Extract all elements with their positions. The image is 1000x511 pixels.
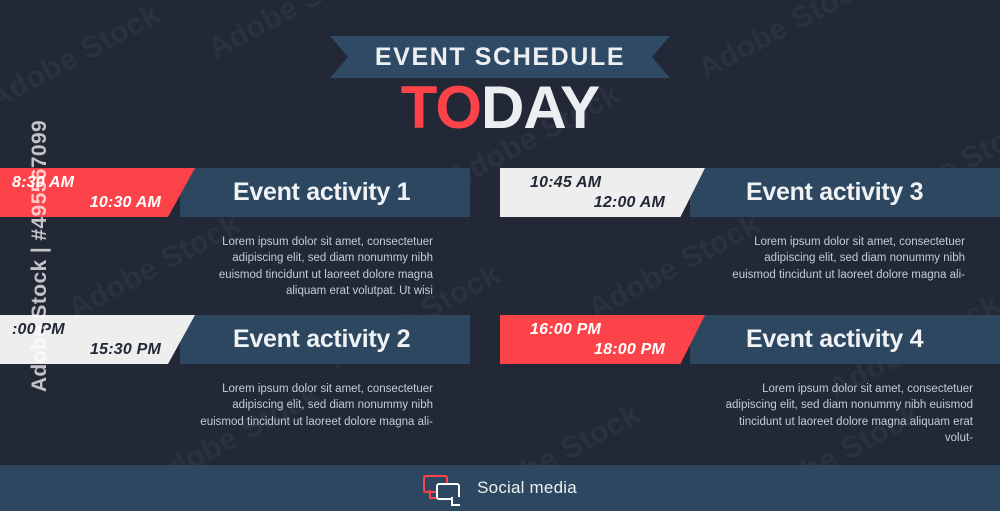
event-title-bar: Event activity 1 — [180, 168, 470, 217]
event-title-bar: Event activity 2 — [180, 315, 470, 364]
event-schedule-poster: Adobe Stock Adobe Stock Adobe Stock Adob… — [0, 0, 1000, 511]
event-title: Event activity 4 — [690, 325, 923, 354]
event-end-time: 15:30 PM — [0, 340, 165, 360]
title-part-day: DAY — [481, 74, 599, 141]
event-end-time: 18:00 PM — [500, 340, 675, 360]
event-description: Lorem ipsum dolor sit amet, consectetuer… — [720, 234, 965, 283]
event-title-bar: Event activity 4 — [690, 315, 1000, 364]
page-title: TODAY — [0, 78, 1000, 138]
event-title: Event activity 3 — [690, 178, 923, 207]
event-description: Lorem ipsum dolor sit amet, consectetuer… — [200, 381, 433, 430]
social-media-label: Social media — [477, 478, 577, 498]
event-end-time: 12:00 AM — [500, 193, 675, 213]
header-ribbon: EVENT SCHEDULE — [330, 36, 670, 78]
event-time-badge: 8:30 AM 10:30 AM — [0, 168, 195, 217]
event-row[interactable]: Event activity 3 10:45 AM 12:00 AM Lorem… — [515, 168, 1000, 298]
event-description: Lorem ipsum dolor sit amet, consectetuer… — [715, 381, 973, 446]
event-title: Event activity 1 — [180, 178, 410, 207]
event-row[interactable]: Event activity 4 16:00 PM 18:00 PM Lorem… — [515, 315, 1000, 445]
speech-bubble-front — [436, 483, 460, 500]
event-start-time: :00 PM — [0, 320, 165, 340]
speech-bubbles-icon — [423, 475, 461, 502]
event-title-bar: Event activity 3 — [690, 168, 1000, 217]
event-row[interactable]: Event activity 1 8:30 AM 10:30 AM Lorem … — [0, 168, 470, 298]
event-title: Event activity 2 — [180, 325, 410, 354]
event-time-badge: :00 PM 15:30 PM — [0, 315, 195, 364]
title-part-to: TO — [401, 74, 481, 141]
header-ribbon-title: EVENT SCHEDULE — [375, 43, 625, 72]
event-end-time: 10:30 AM — [0, 193, 165, 213]
event-description: Lorem ipsum dolor sit amet, consectetuer… — [200, 234, 433, 299]
event-start-time: 8:30 AM — [0, 173, 165, 193]
event-row[interactable]: Event activity 2 :00 PM 15:30 PM Lorem i… — [0, 315, 470, 445]
event-time-badge: 10:45 AM 12:00 AM — [500, 168, 705, 217]
event-start-time: 10:45 AM — [500, 173, 675, 193]
watermark-tile: Adobe Stock — [693, 0, 876, 86]
event-time-badge: 16:00 PM 18:00 PM — [500, 315, 705, 364]
event-start-time: 16:00 PM — [500, 320, 675, 340]
social-media-footer[interactable]: Social media — [0, 465, 1000, 511]
